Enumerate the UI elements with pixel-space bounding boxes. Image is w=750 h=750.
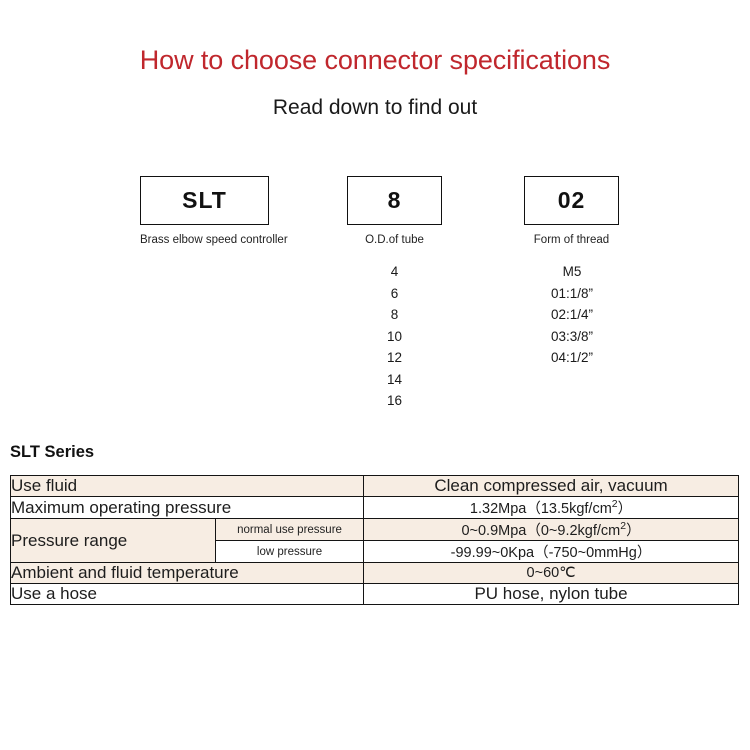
table-row: Pressure range normal use pressure 0~0.9… [11, 519, 739, 541]
value-main: -99.99~0Kpa（-750~0mmHg） [451, 545, 652, 561]
od-option: 6 [347, 283, 442, 305]
code-box-od: 8 [347, 176, 442, 225]
thread-option: 04:1/2” [512, 347, 632, 369]
spec-value-max-pressure: 1.32Mpa（13.5kgf/cm2） [364, 497, 739, 519]
page-subtitle: Read down to find out [0, 96, 750, 120]
od-option: 10 [347, 326, 442, 348]
value-main: 1.32Mpa（13.5kgf/cm [470, 501, 612, 517]
series-heading: SLT Series [10, 443, 94, 462]
code-caption-thread: Form of thread [524, 234, 619, 246]
spec-value-use-a-hose: PU hose, nylon tube [364, 584, 739, 605]
od-option: 4 [347, 261, 442, 283]
value-tail: ） [626, 523, 641, 539]
od-option: 14 [347, 369, 442, 391]
table-row: Use a hose PU hose, nylon tube [11, 584, 739, 605]
spec-value-use-fluid: Clean compressed air, vacuum [364, 476, 739, 497]
table-row: Ambient and fluid temperature 0~60℃ [11, 563, 739, 584]
spec-label-use-a-hose: Use a hose [11, 584, 364, 605]
spec-value-normal-use-pressure: 0~0.9Mpa（0~9.2kgf/cm2） [364, 519, 739, 541]
thread-option: 02:1/4” [512, 304, 632, 326]
thread-option: M5 [512, 261, 632, 283]
thread-option: 03:3/8” [512, 326, 632, 348]
od-option: 8 [347, 304, 442, 326]
spec-label-temperature: Ambient and fluid temperature [11, 563, 364, 584]
spec-sublabel-low-pressure: low pressure [216, 541, 364, 563]
od-option-list: 4 6 8 10 12 14 16 [347, 261, 442, 412]
code-caption-series: Brass elbow speed controller [140, 234, 269, 246]
od-option: 12 [347, 347, 442, 369]
table-row: Maximum operating pressure 1.32Mpa（13.5k… [11, 497, 739, 519]
value-main: 0~0.9Mpa（0~9.2kgf/cm [461, 523, 620, 539]
spec-value-low-pressure: -99.99~0Kpa（-750~0mmHg） [364, 541, 739, 563]
code-caption-od: O.D.of tube [347, 234, 442, 246]
table-row: Use fluid Clean compressed air, vacuum [11, 476, 739, 497]
code-box-thread: 02 [524, 176, 619, 225]
spec-label-max-pressure: Maximum operating pressure [11, 497, 364, 519]
thread-option: 01:1/8” [512, 283, 632, 305]
od-option: 16 [347, 390, 442, 412]
page-title: How to choose connector specifications [0, 45, 750, 76]
value-tail: ） [618, 501, 633, 517]
spec-label-use-fluid: Use fluid [11, 476, 364, 497]
spec-sublabel-normal-use-pressure: normal use pressure [216, 519, 364, 541]
code-box-series: SLT [140, 176, 269, 225]
spec-value-temperature: 0~60℃ [364, 563, 739, 584]
spec-label-pressure-range: Pressure range [11, 519, 216, 563]
spec-table: Use fluid Clean compressed air, vacuum M… [10, 475, 739, 605]
thread-option-list: M5 01:1/8” 02:1/4” 03:3/8” 04:1/2” [512, 261, 632, 369]
